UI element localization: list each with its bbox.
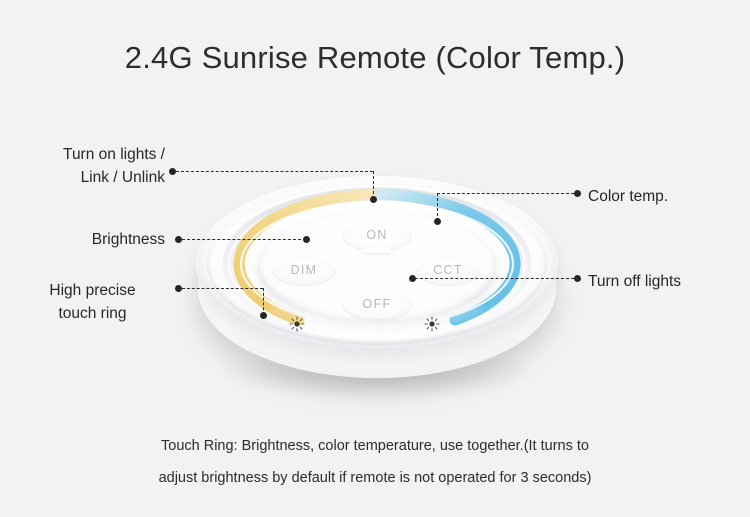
- leader-line-color-temp-drop: [437, 193, 438, 221]
- touch-ring-caption: Touch Ring: Brightness, color temperatur…: [0, 430, 750, 494]
- page-title: 2.4G Sunrise Remote (Color Temp.): [0, 40, 750, 76]
- leader-dot-turn-on: [169, 168, 176, 175]
- sun-icon-cool: [424, 316, 440, 332]
- on-indicator-bar: [363, 248, 391, 253]
- leader-line-turn-off: [415, 278, 574, 279]
- sun-icon-warm: [289, 316, 305, 332]
- callout-turn-on-lights: Turn on lights / Link / Unlink: [20, 143, 165, 189]
- leader-dot-brightness: [175, 236, 182, 243]
- callout-turn-off-lights: Turn off lights: [588, 270, 748, 293]
- remote-device-illustration: ON OFF DIM CCT: [196, 176, 558, 402]
- leader-line-turn-on: [176, 171, 373, 172]
- leader-dot-touch-ring-target: [260, 312, 267, 319]
- callout-brightness: Brightness: [20, 228, 165, 251]
- screenshot-root: 2.4G Sunrise Remote (Color Temp.): [0, 0, 750, 517]
- leader-dot-turn-on-target: [370, 196, 377, 203]
- leader-line-turn-on-drop: [373, 171, 374, 199]
- callout-touch-ring: High precise touch ring: [20, 279, 165, 325]
- leader-line-touch-ring-drop: [263, 288, 264, 315]
- leader-dot-color-temp-target: [434, 218, 441, 225]
- leader-line-brightness: [182, 239, 306, 240]
- leader-line-color-temp: [437, 193, 574, 194]
- callout-color-temp: Color temp.: [588, 185, 748, 208]
- cct-button-label[interactable]: CCT: [418, 263, 478, 277]
- leader-dot-turn-off: [574, 275, 581, 282]
- leader-dot-color-temp: [574, 190, 581, 197]
- leader-dot-touch-ring: [175, 285, 182, 292]
- on-button-label[interactable]: ON: [344, 228, 410, 242]
- off-button-label[interactable]: OFF: [344, 297, 410, 311]
- dim-button-label[interactable]: DIM: [274, 263, 334, 277]
- leader-dot-turn-off-target: [409, 275, 416, 282]
- leader-line-touch-ring: [182, 288, 263, 289]
- leader-dot-brightness-target: [303, 236, 310, 243]
